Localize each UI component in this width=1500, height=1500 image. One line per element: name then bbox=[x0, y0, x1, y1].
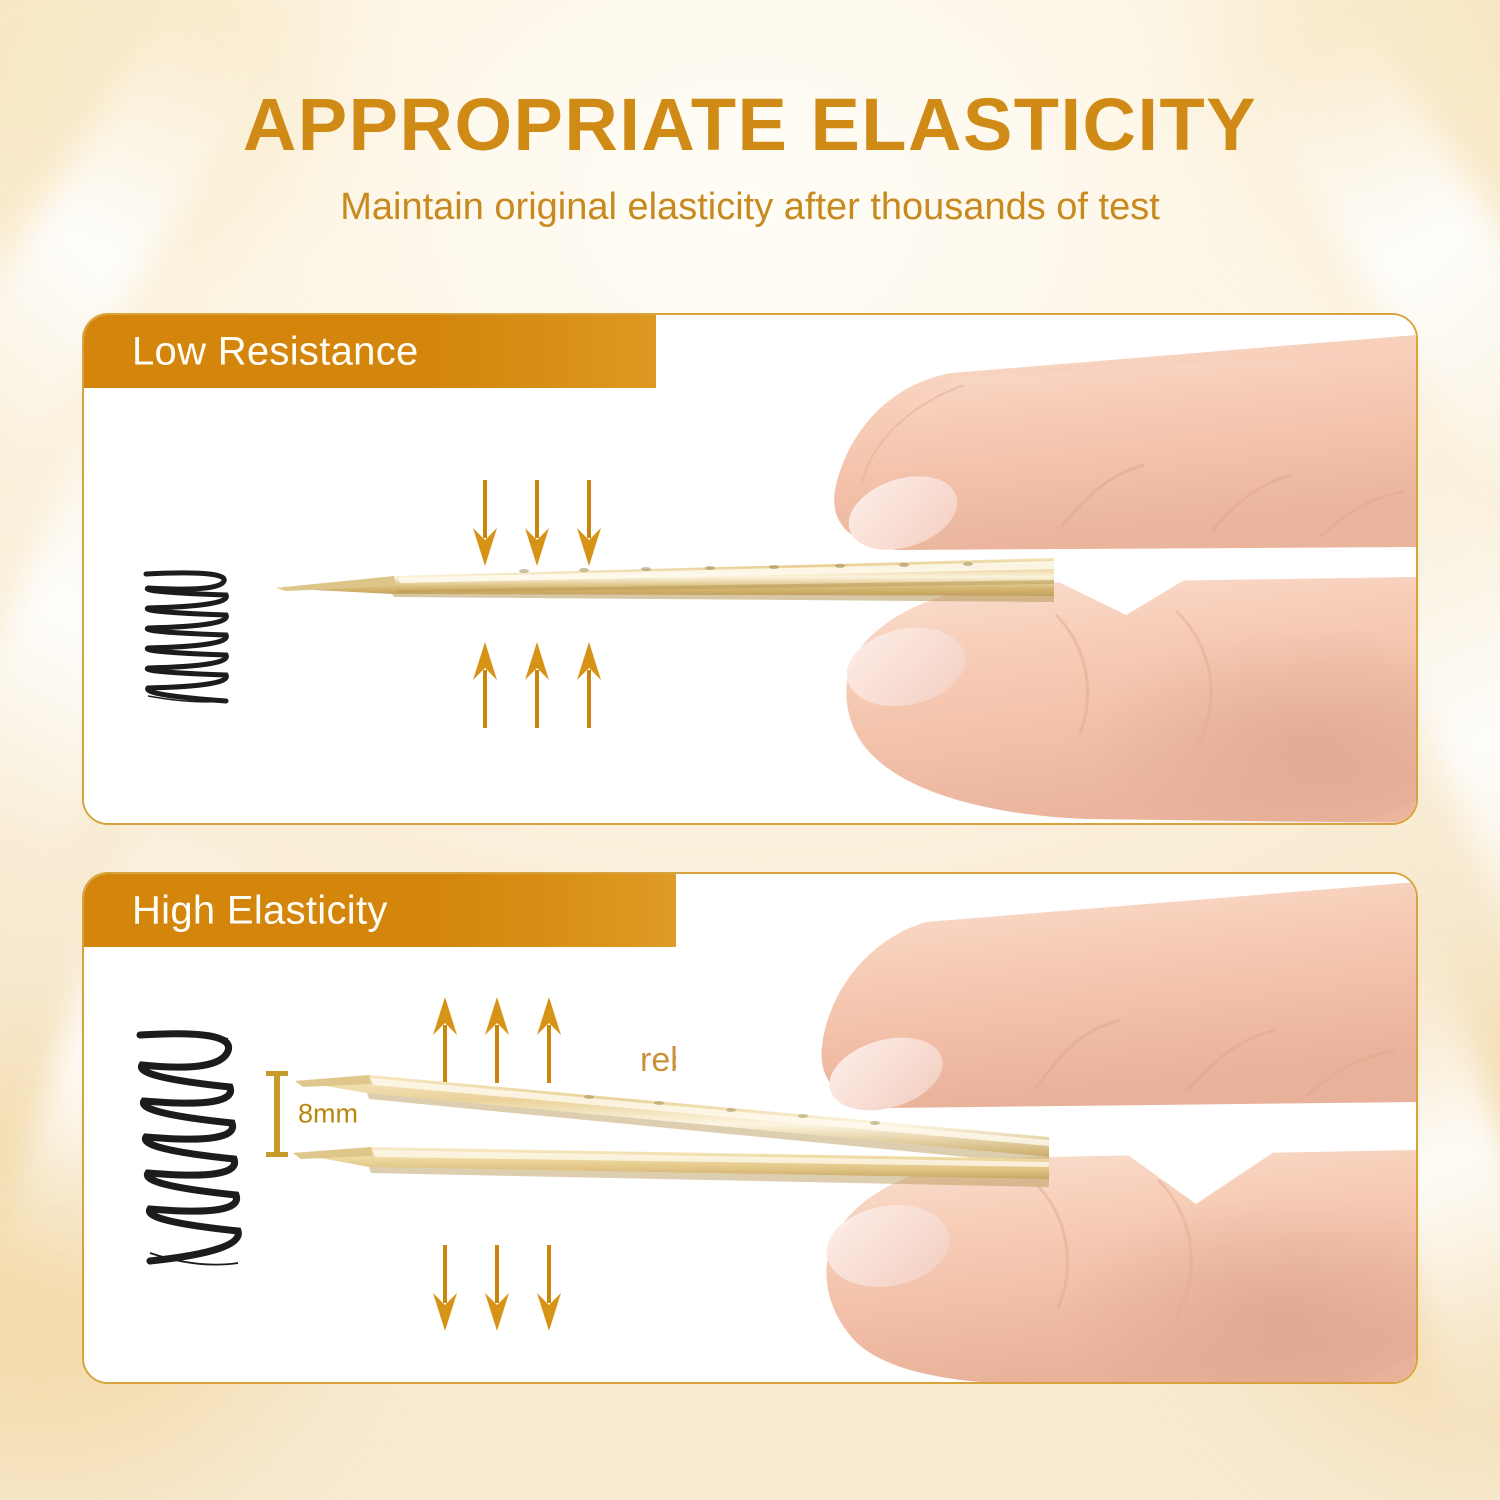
card-low-resistance: Low Resistance bbox=[82, 313, 1418, 825]
card-body-high-elasticity: rebound easily bbox=[84, 947, 1416, 1382]
arrow-up-icon bbox=[472, 642, 498, 728]
header: APPROPRIATE ELASTICITY Maintain original… bbox=[0, 88, 1500, 226]
card-body-low-resistance bbox=[84, 388, 1416, 823]
page-subtitle: Maintain original elasticity after thous… bbox=[0, 188, 1500, 226]
gold-tweezers-closed bbox=[274, 550, 1054, 640]
arrow-up-icon bbox=[524, 642, 550, 728]
compressed-spring-icon bbox=[132, 568, 240, 708]
arrows-up-low bbox=[472, 642, 602, 728]
arrow-down-icon bbox=[536, 1245, 562, 1331]
dimension-marker-8mm: 8mm bbox=[262, 1069, 422, 1159]
extended-spring-icon bbox=[124, 1025, 254, 1275]
card-high-elasticity: High Elasticity bbox=[82, 872, 1418, 1384]
card-title-high-elasticity: High Elasticity bbox=[132, 888, 388, 933]
arrow-down-icon bbox=[432, 1245, 458, 1331]
product-infographic: APPROPRIATE ELASTICITY Maintain original… bbox=[0, 0, 1500, 1500]
arrow-up-icon bbox=[576, 642, 602, 728]
card-title-low-resistance: Low Resistance bbox=[132, 329, 419, 374]
dimension-label: 8mm bbox=[298, 1099, 358, 1130]
arrows-down-high bbox=[432, 1245, 562, 1331]
page-title: APPROPRIATE ELASTICITY bbox=[0, 88, 1500, 162]
arrow-down-icon bbox=[484, 1245, 510, 1331]
i-beam-icon bbox=[262, 1069, 292, 1159]
